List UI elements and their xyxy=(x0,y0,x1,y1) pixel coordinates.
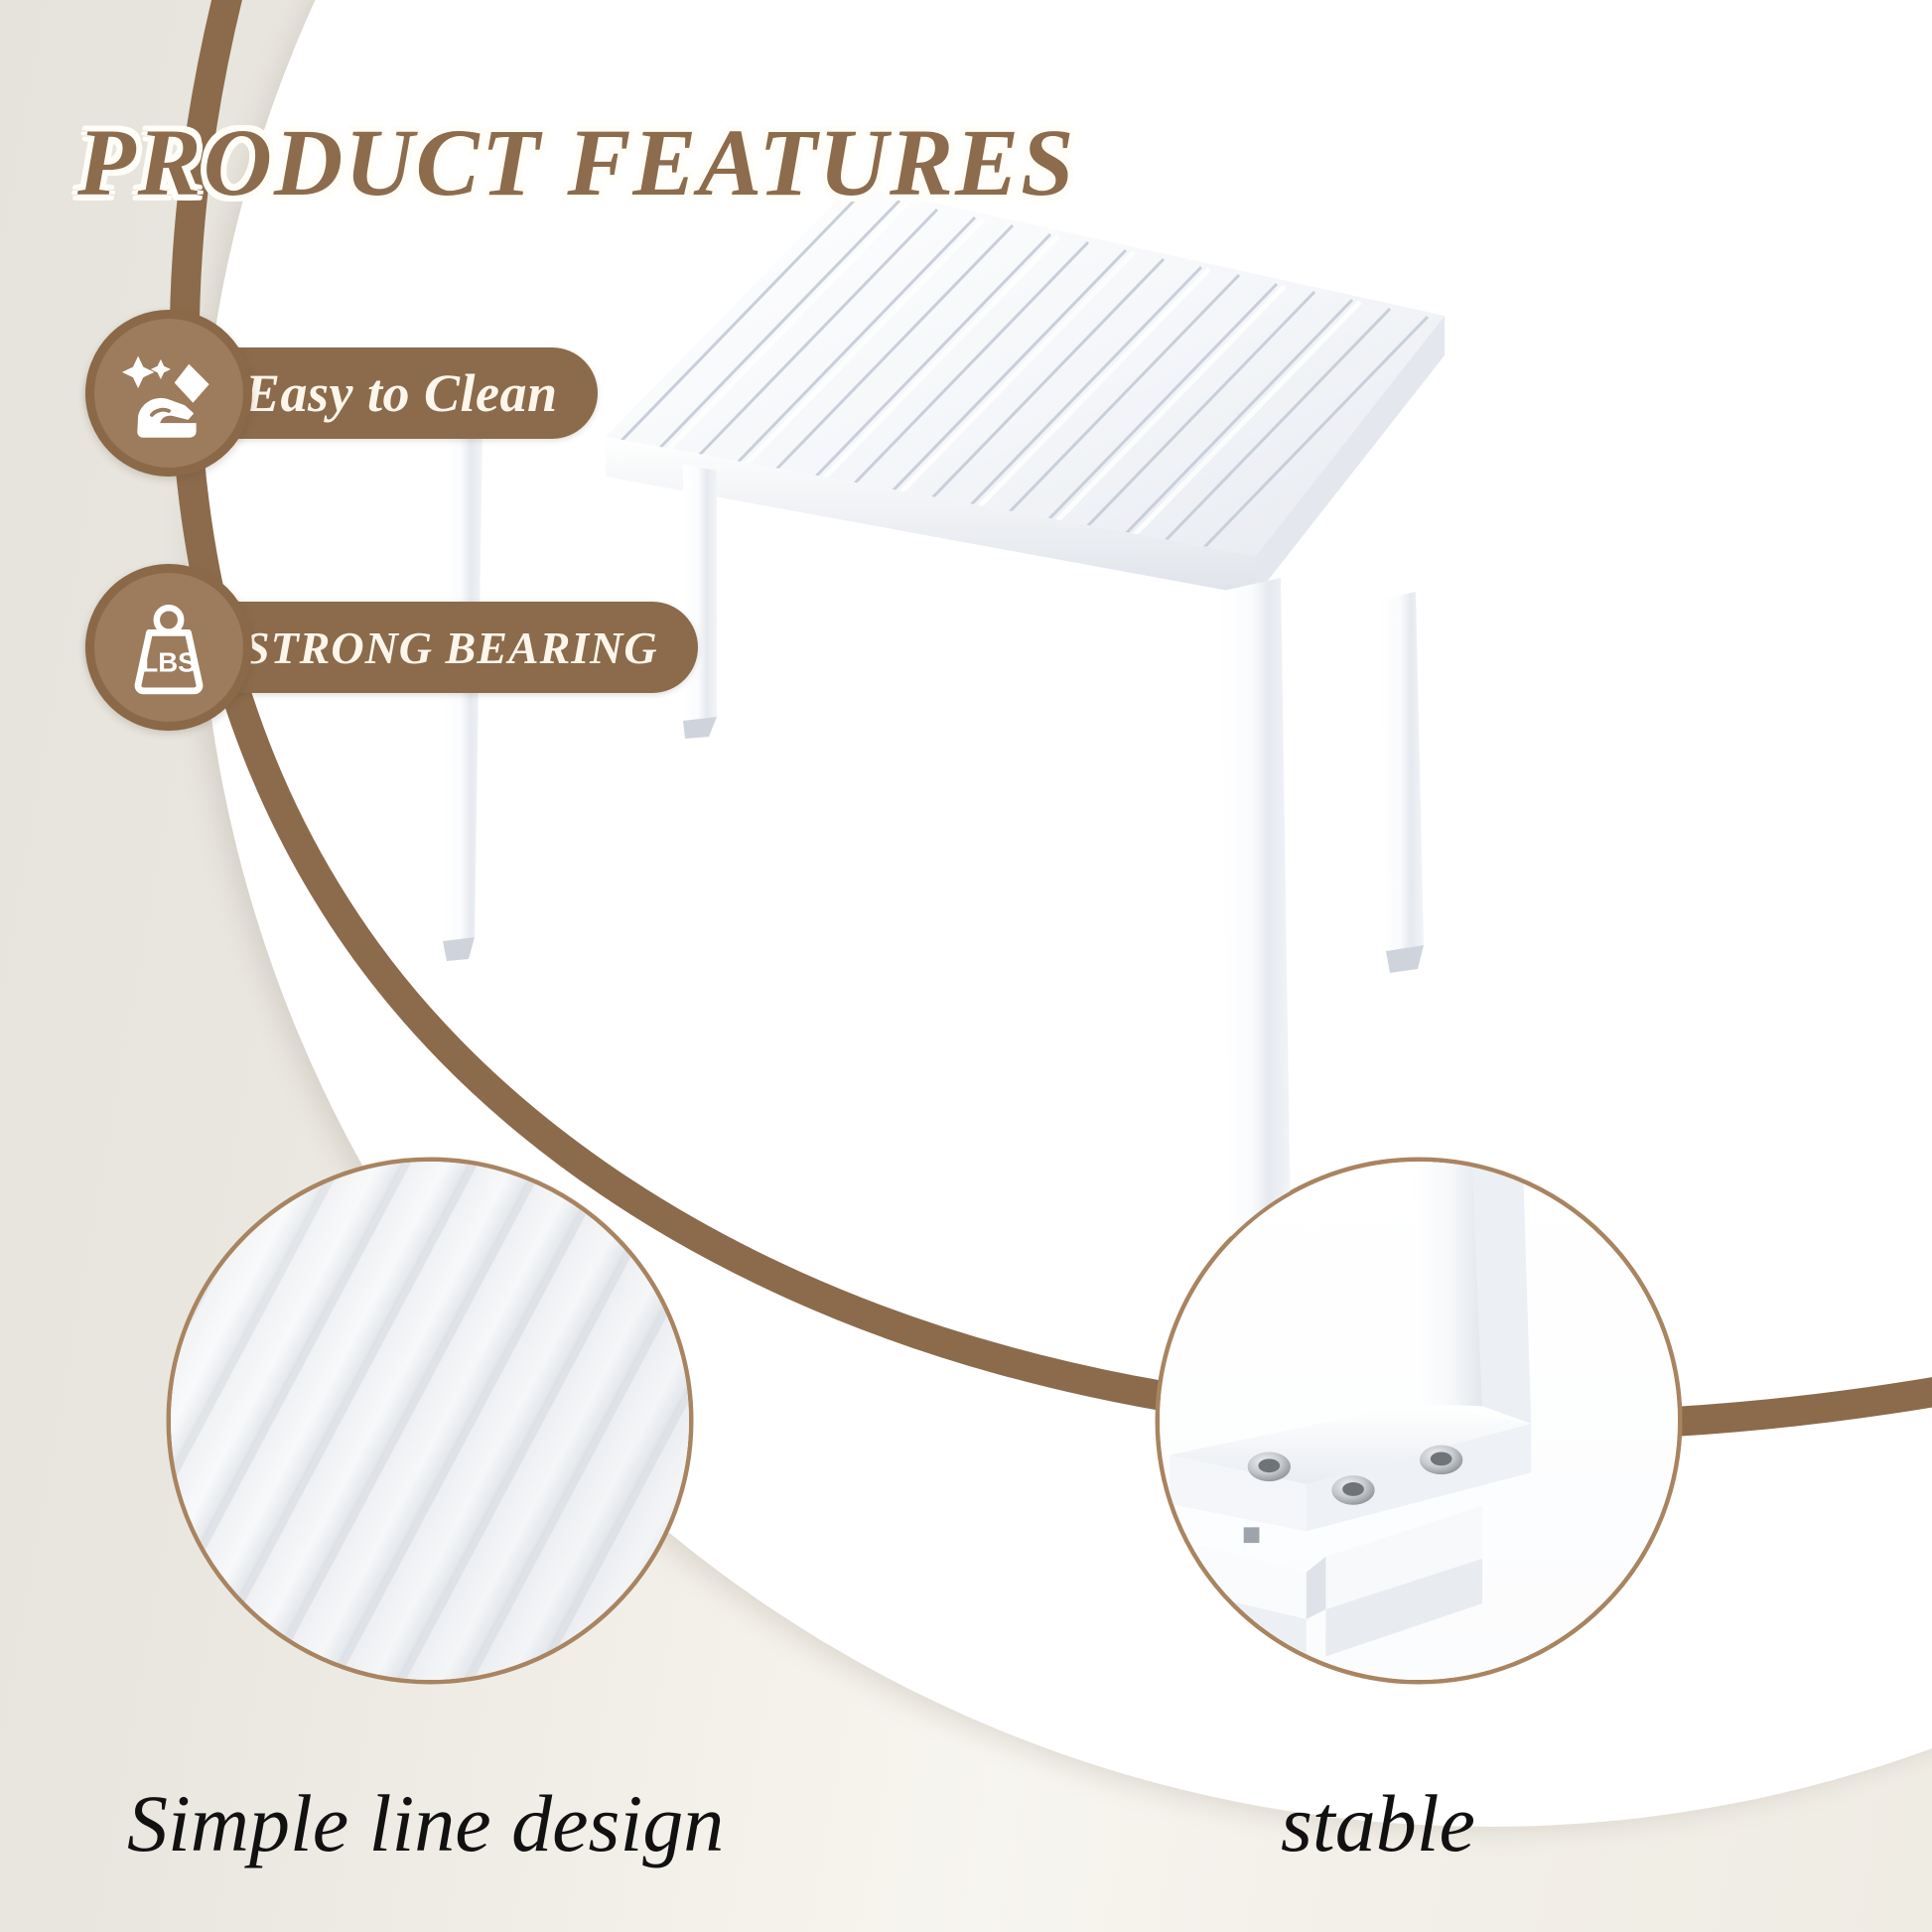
table-leg-front-right xyxy=(1219,578,1291,1241)
caption-stable: stable xyxy=(1281,1777,1475,1870)
detail-callout-joint-closeup xyxy=(1156,1158,1682,1684)
joint-notch xyxy=(1244,1527,1260,1543)
leg-joint-closeup-illustration xyxy=(1160,1162,1678,1680)
table-leg-back-right xyxy=(1380,592,1424,951)
sparkle-cleaning-cloth-glyph xyxy=(117,342,220,445)
sparkle-cleaning-cloth-icon xyxy=(85,310,252,477)
slat-texture xyxy=(167,1158,693,1684)
detail-callout-slat-closeup xyxy=(167,1158,693,1684)
table-leg-foot-back-left xyxy=(443,937,475,961)
joint-leg-post xyxy=(1412,1162,1482,1406)
lbs-weight-glyph: LBS xyxy=(117,596,220,699)
infographic-canvas: PRODUCT FEATURES Easy to Clean STRONG BE… xyxy=(0,0,1932,1932)
caption-simple-line-design: Simple line design xyxy=(127,1777,724,1870)
feature-easy-to-clean[interactable]: Easy to Clean xyxy=(85,347,598,439)
lbs-icon-text: LBS xyxy=(141,646,196,677)
lbs-weight-icon: LBS xyxy=(85,564,252,731)
page-title: PRODUCT FEATURES xyxy=(77,107,1076,217)
feature-strong-bearing[interactable]: STRONG BEARING LBS xyxy=(85,602,698,693)
